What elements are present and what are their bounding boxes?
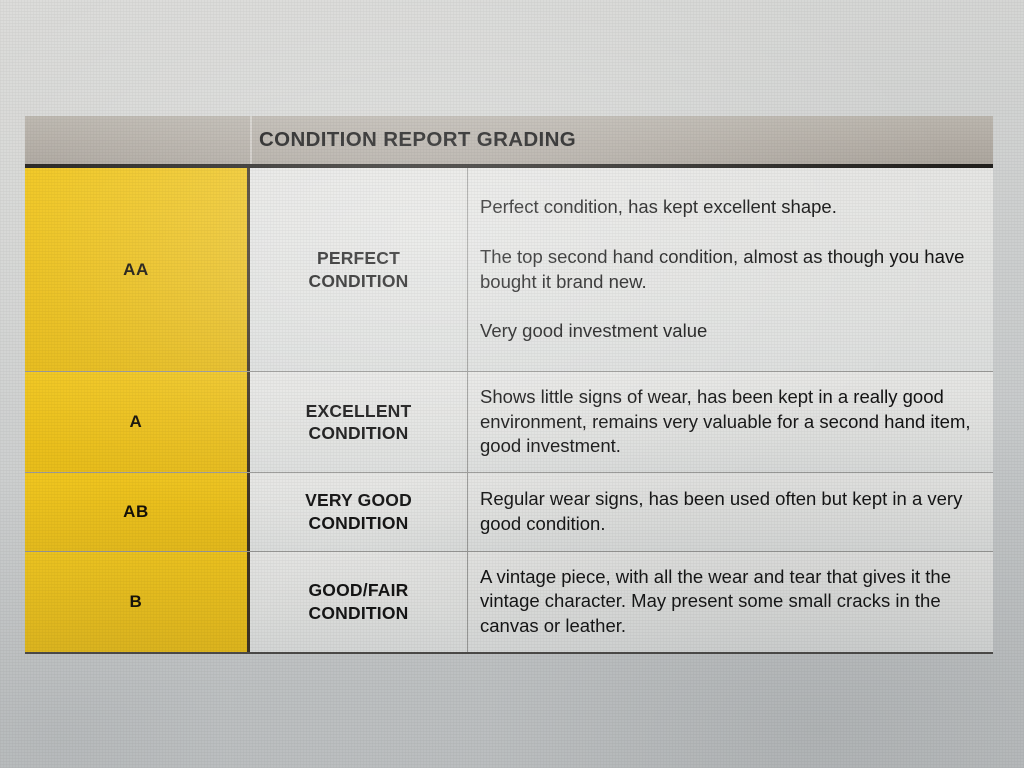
grade-label: B xyxy=(130,592,143,612)
condition-label: VERY GOOD CONDITION xyxy=(305,489,412,534)
grade-label: AA xyxy=(123,260,149,280)
condition-label-line: CONDITION xyxy=(306,422,412,444)
condition-label: PERFECT CONDITION xyxy=(309,247,409,292)
table-row: AB VERY GOOD CONDITION Regular wear sign… xyxy=(25,473,993,552)
grade-label: AB xyxy=(123,502,149,522)
description-paragraph: A vintage piece, with all the wear and t… xyxy=(480,565,977,639)
description-paragraph: Perfect condition, has kept excellent sh… xyxy=(480,195,977,220)
description-cell-b: A vintage piece, with all the wear and t… xyxy=(468,552,993,652)
description-paragraph: Shows little signs of wear, has been kep… xyxy=(480,385,977,459)
condition-label-line: CONDITION xyxy=(305,512,412,534)
condition-label: EXCELLENT CONDITION xyxy=(306,400,412,445)
description-cell-a: Shows little signs of wear, has been kep… xyxy=(468,372,993,472)
condition-cell-a: EXCELLENT CONDITION xyxy=(250,372,468,472)
condition-label-line: GOOD/FAIR xyxy=(309,579,409,601)
condition-label-line: CONDITION xyxy=(309,270,409,292)
condition-label-line: CONDITION xyxy=(309,602,409,624)
description-cell-ab: Regular wear signs, has been used often … xyxy=(468,473,993,551)
condition-cell-b: GOOD/FAIR CONDITION xyxy=(250,552,468,652)
description-paragraph: Regular wear signs, has been used often … xyxy=(480,487,977,536)
table-row: B GOOD/FAIR CONDITION A vintage piece, w… xyxy=(25,552,993,654)
description-paragraph: Very good investment value xyxy=(480,319,977,344)
condition-label-line: PERFECT xyxy=(309,247,409,269)
table-header: CONDITION REPORT GRADING xyxy=(25,116,993,168)
table-title: CONDITION REPORT GRADING xyxy=(259,128,576,152)
grade-cell-ab: AB xyxy=(25,473,250,551)
condition-cell-ab: VERY GOOD CONDITION xyxy=(250,473,468,551)
table-row: AA PERFECT CONDITION Perfect condition, … xyxy=(25,168,993,372)
description-cell-aa: Perfect condition, has kept excellent sh… xyxy=(468,168,993,371)
condition-report-grading-table: CONDITION REPORT GRADING AA PERFECT COND… xyxy=(25,116,993,654)
condition-label-line: EXCELLENT xyxy=(306,400,412,422)
condition-label-line: VERY GOOD xyxy=(305,489,412,511)
grade-cell-b: B xyxy=(25,552,250,652)
description-paragraph: The top second hand condition, almost as… xyxy=(480,245,977,294)
grade-cell-aa: AA xyxy=(25,168,250,371)
grade-label: A xyxy=(130,412,143,432)
condition-cell-aa: PERFECT CONDITION xyxy=(250,168,468,371)
header-column-divider xyxy=(250,116,252,164)
photographed-page: CONDITION REPORT GRADING AA PERFECT COND… xyxy=(0,0,1024,768)
grade-cell-a: A xyxy=(25,372,250,472)
table-row: A EXCELLENT CONDITION Shows little signs… xyxy=(25,372,993,473)
condition-label: GOOD/FAIR CONDITION xyxy=(309,579,409,624)
